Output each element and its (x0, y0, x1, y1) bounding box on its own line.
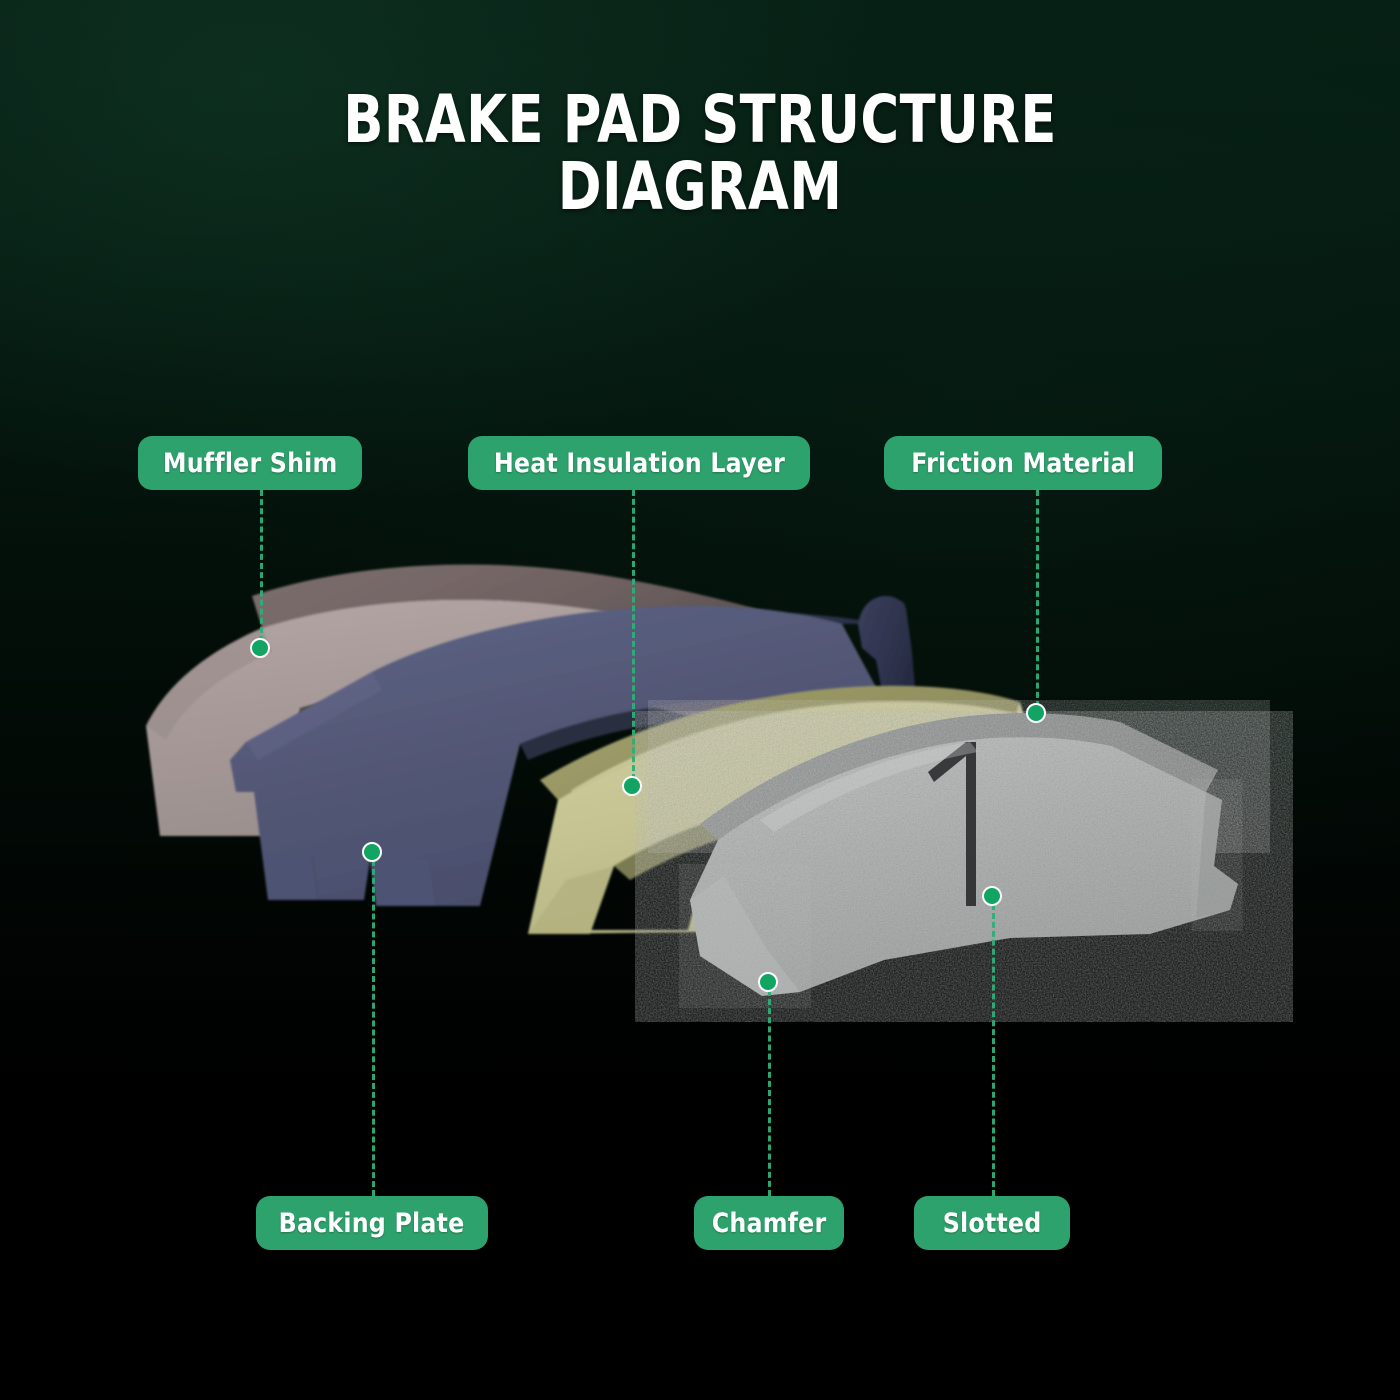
callout-label-heat-insulation-layer: Heat Insulation Layer (493, 448, 784, 479)
leader-line-friction-material (1036, 490, 1039, 707)
callout-label-friction-material: Friction Material (911, 448, 1135, 479)
leader-line-chamfer (768, 990, 771, 1196)
leader-line-muffler-shim (260, 490, 263, 642)
callout-badge-slotted[interactable]: Slotted (914, 1196, 1070, 1250)
callout-badge-heat-insulation-layer[interactable]: Heat Insulation Layer (468, 436, 810, 490)
connector-dot-muffler-shim[interactable] (250, 638, 270, 658)
connector-dot-slotted[interactable] (982, 886, 1002, 906)
connector-dot-chamfer[interactable] (758, 972, 778, 992)
diagram-canvas: BRAKE PAD STRUCTURE DIAGRAM (0, 0, 1400, 1400)
callout-badge-friction-material[interactable]: Friction Material (884, 436, 1162, 490)
callout-label-muffler-shim: Muffler Shim (163, 448, 338, 479)
leader-line-slotted (992, 904, 995, 1196)
callout-label-backing-plate: Backing Plate (279, 1208, 465, 1239)
callout-label-slotted: Slotted (943, 1208, 1042, 1239)
leader-line-backing-plate (372, 860, 375, 1196)
callout-badge-chamfer[interactable]: Chamfer (694, 1196, 844, 1250)
connector-dot-friction-material[interactable] (1026, 703, 1046, 723)
brake-pad-illustration (0, 0, 1400, 1400)
connector-dot-heat-insulation-layer[interactable] (622, 776, 642, 796)
callout-label-chamfer: Chamfer (712, 1208, 827, 1239)
callout-badge-backing-plate[interactable]: Backing Plate (256, 1196, 488, 1250)
callout-badge-muffler-shim[interactable]: Muffler Shim (138, 436, 362, 490)
connector-dot-backing-plate[interactable] (362, 842, 382, 862)
leader-line-heat-insulation-layer (632, 490, 635, 780)
